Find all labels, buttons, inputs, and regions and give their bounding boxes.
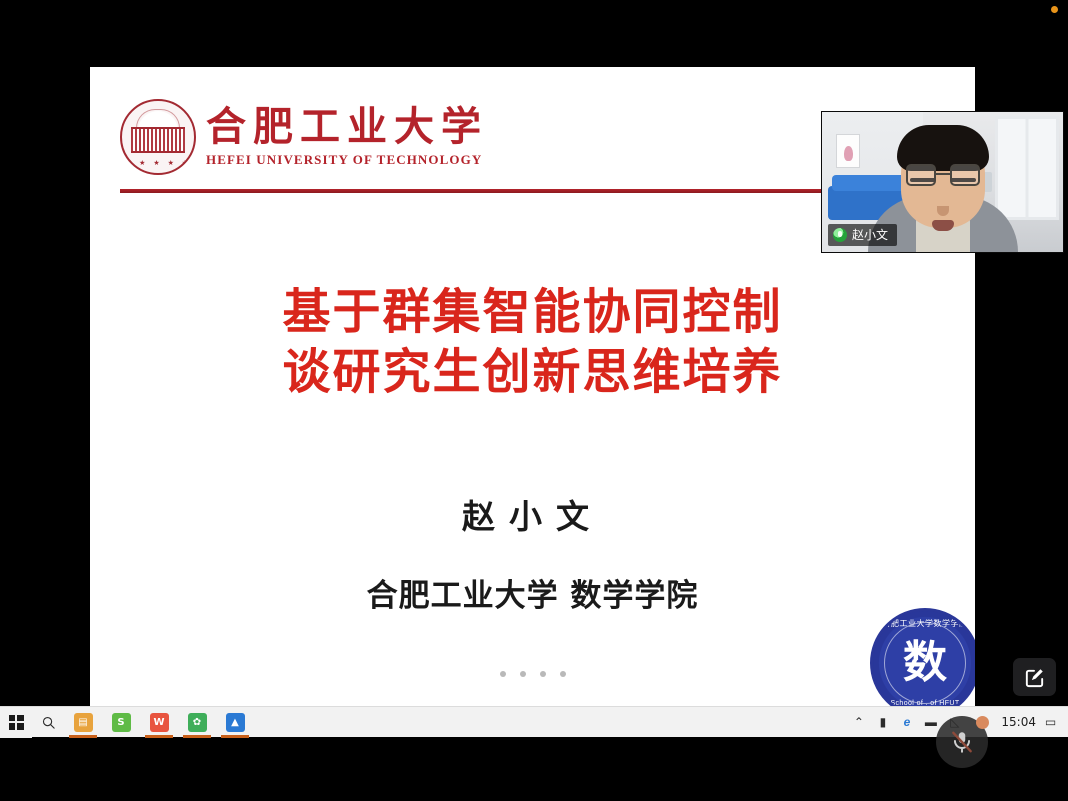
start-button[interactable] [0, 707, 32, 738]
presenter-info: 赵小文 合肥工业大学 数学学院 [90, 499, 975, 615]
start-tile [9, 715, 16, 722]
usb-device-icon[interactable]: ▮ [875, 715, 890, 730]
battery-icon[interactable]: ▬ [923, 715, 938, 730]
start-tile [17, 715, 24, 722]
annotate-button[interactable] [1013, 658, 1056, 696]
glasses-lens-left [906, 164, 936, 186]
seal-glyph: 数 [873, 641, 975, 685]
title-line-2: 谈研究生创新思维培养 [90, 342, 975, 402]
leaf-app-icon: ✿ [188, 713, 207, 732]
university-logo: ★ ★ ★ ★ ★ 合肥工业大学 HEFEI UNIVERSITY OF TEC… [120, 92, 500, 182]
presenter-name: 赵小文 [90, 499, 975, 535]
taskbar-search-button[interactable] [32, 707, 64, 738]
glasses-lens-right [950, 164, 980, 186]
taskbar-left-group: ▤ S W ✿ ▲ [0, 707, 254, 737]
wechat-app-icon: S [112, 713, 131, 732]
title-line-1: 基于群集智能协同控制 [90, 282, 975, 342]
participant-video-tile[interactable]: 赵小文 [821, 111, 1064, 253]
taskbar-app-file-explorer[interactable]: ▤ [64, 707, 102, 738]
university-seal-icon: ★ ★ ★ ★ ★ [120, 99, 196, 175]
pager-dot [540, 671, 546, 677]
video-wall-picture [836, 134, 860, 168]
pager-dot [520, 671, 526, 677]
pencil-annotate-icon [1023, 666, 1046, 689]
screen-share-view: ★ ★ ★ ★ ★ 合肥工业大学 HEFEI UNIVERSITY OF TEC… [0, 0, 1068, 801]
video-person-mouth [932, 220, 954, 231]
windows-start-icon [9, 715, 24, 730]
seal-text-cn: 合肥工业大学数学学院 [873, 618, 975, 629]
show-desktop-icon[interactable]: ▭ [1043, 715, 1058, 730]
university-logo-text: 合肥工业大学 HEFEI UNIVERSITY OF TECHNOLOGY [206, 106, 488, 168]
chevron-up-icon[interactable]: ⌃ [851, 715, 866, 730]
school-of-mathematics-seal: 合肥工业大学数学学院 数 School of . of HFUT [870, 608, 975, 706]
video-person-nose [937, 206, 949, 216]
start-tile [9, 723, 16, 730]
seal-stars: ★ ★ ★ ★ ★ [122, 160, 194, 167]
taskbar-app-wps[interactable]: W [140, 707, 178, 738]
taskbar-clock[interactable]: 15:04 [994, 715, 1043, 729]
microphone-muted-icon [949, 729, 975, 755]
pager-dot [560, 671, 566, 677]
presenter-affiliation: 合肥工业大学 数学学院 [90, 570, 975, 615]
search-icon [41, 715, 56, 730]
taskbar-app-green[interactable]: S [102, 707, 140, 738]
glasses-icon [906, 164, 980, 186]
video-window [995, 116, 1059, 220]
file-explorer-icon: ▤ [74, 713, 93, 732]
taskbar-app-leaf[interactable]: ✿ [178, 707, 216, 738]
recording-indicator-dot [1051, 6, 1058, 13]
start-tile [17, 723, 24, 730]
participant-name-label: 赵小文 [852, 229, 888, 241]
mute-microphone-button[interactable] [936, 716, 988, 768]
university-name-cn: 合肥工业大学 [206, 106, 488, 148]
taskbar-app-photos[interactable]: ▲ [216, 707, 254, 738]
hand-raise-indicator [976, 716, 989, 729]
pager-dot [500, 671, 506, 677]
participant-name-badge: 赵小文 [828, 224, 897, 246]
internet-explorer-icon[interactable]: e [899, 715, 914, 730]
photos-app-icon: ▲ [226, 713, 245, 732]
slide-pager-dots [90, 671, 975, 677]
university-name-en: HEFEI UNIVERSITY OF TECHNOLOGY [206, 152, 488, 168]
wps-office-icon: W [150, 713, 169, 732]
microphone-active-icon [833, 228, 847, 242]
slide-title: 基于群集智能协同控制 谈研究生创新思维培养 [90, 282, 975, 402]
glasses-bridge [936, 173, 950, 175]
windows-taskbar[interactable]: ▤ S W ✿ ▲ ⌃ ▮ e ▬ ◺ ◖ 15:04 ▭ [0, 706, 1068, 737]
